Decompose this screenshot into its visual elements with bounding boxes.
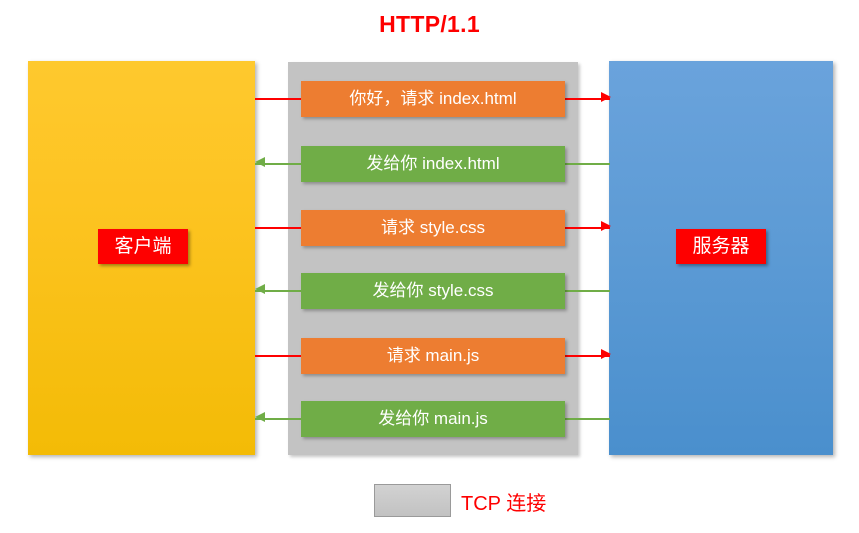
client-label: 客户端 <box>98 229 188 264</box>
server-label: 服务器 <box>676 229 766 264</box>
message-row: 发给你 main.js <box>0 401 859 437</box>
arrow-left-icon <box>255 157 265 167</box>
message-row: 请求 main.js <box>0 338 859 374</box>
http11-sequence-diagram: HTTP/1.1 你好，请求 index.html发给你 index.html请… <box>0 0 859 533</box>
diagram-title: HTTP/1.1 <box>0 11 859 38</box>
response-message-box: 发给你 index.html <box>301 146 565 182</box>
request-message-box: 请求 main.js <box>301 338 565 374</box>
arrow-right-icon <box>601 349 611 359</box>
message-row: 发给你 style.css <box>0 273 859 309</box>
message-row: 发给你 index.html <box>0 146 859 182</box>
legend-label-tcp: TCP 连接 <box>461 487 546 516</box>
request-message-box: 请求 style.css <box>301 210 565 246</box>
legend-swatch-tcp <box>374 484 451 517</box>
request-message-box: 你好，请求 index.html <box>301 81 565 117</box>
response-message-box: 发给你 style.css <box>301 273 565 309</box>
tcp-connection-band <box>288 62 578 455</box>
arrow-right-icon <box>601 221 611 231</box>
response-message-box: 发给你 main.js <box>301 401 565 437</box>
arrow-left-icon <box>255 412 265 422</box>
arrow-left-icon <box>255 284 265 294</box>
message-row: 你好，请求 index.html <box>0 81 859 117</box>
arrow-right-icon <box>601 92 611 102</box>
